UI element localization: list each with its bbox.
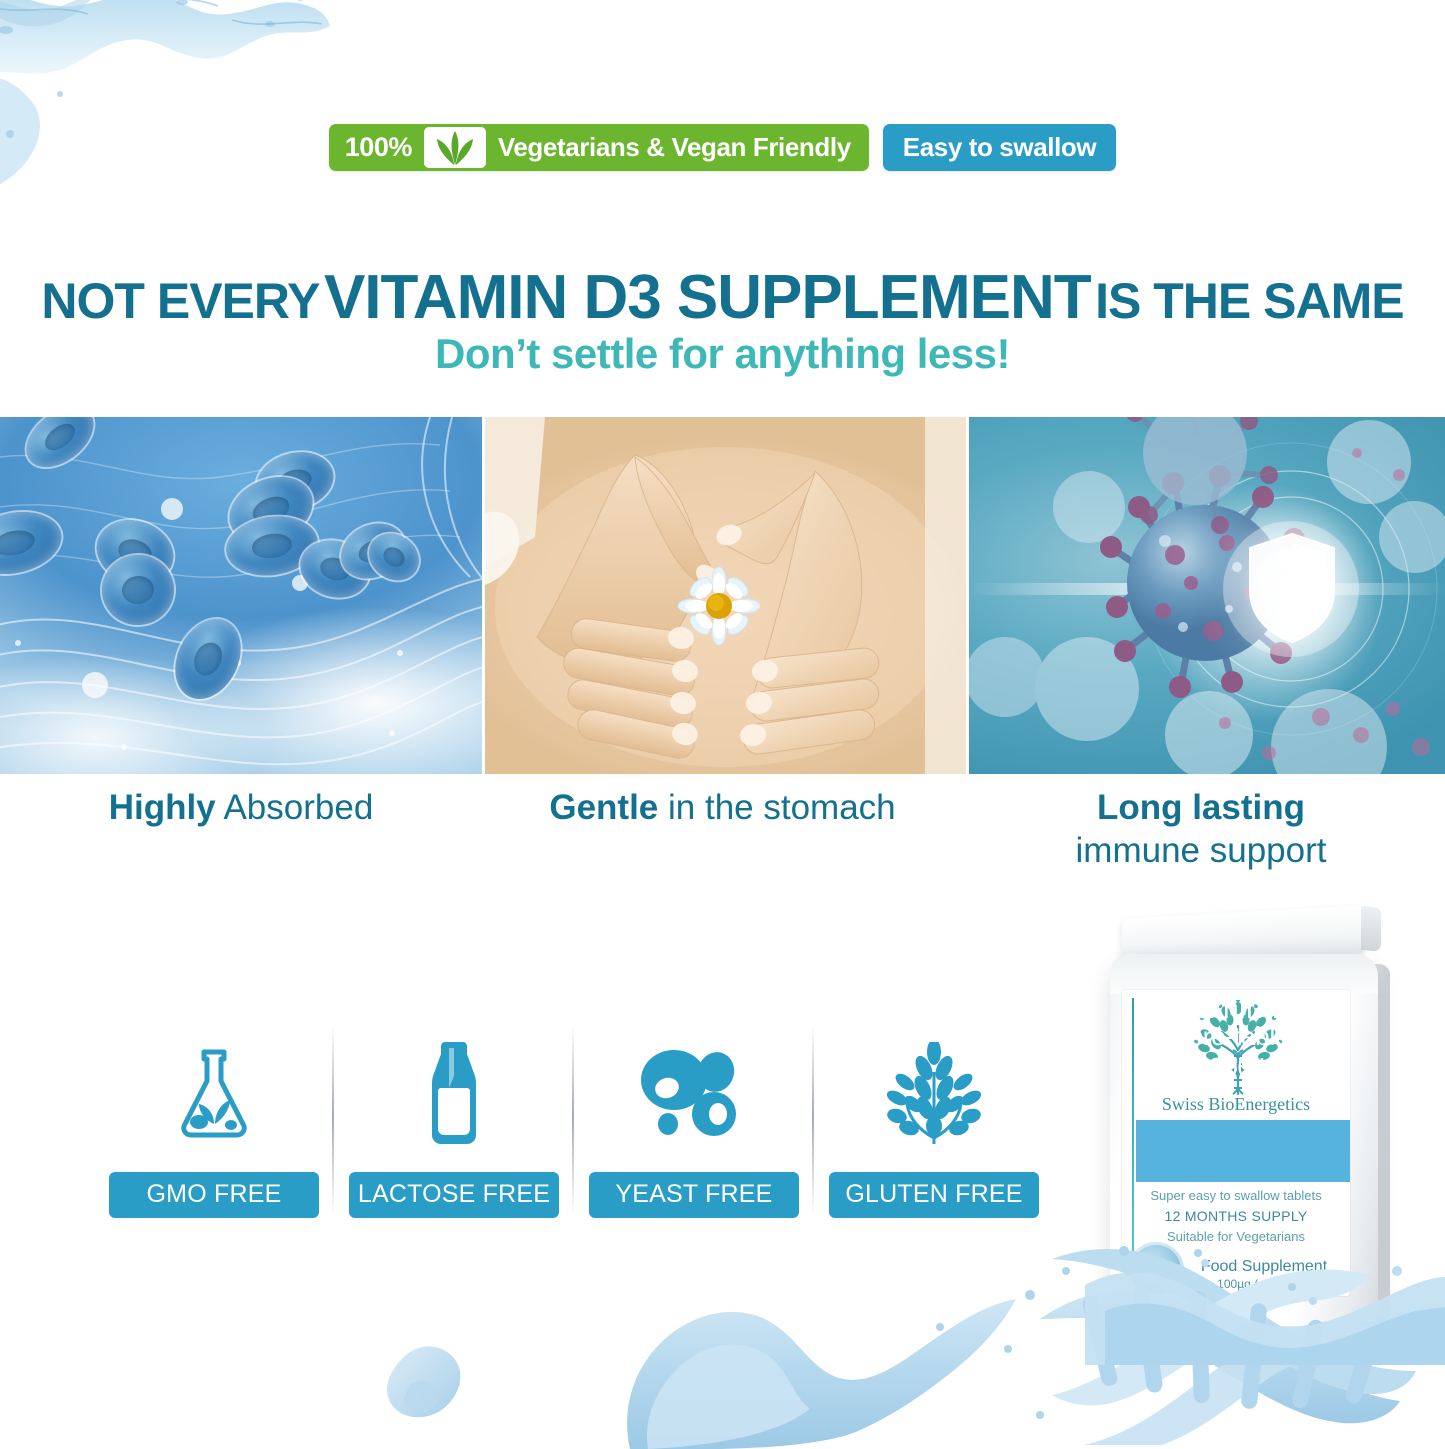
caption-gentle-stomach: Gentle in the stomach: [482, 787, 963, 892]
free-from-label: GMO FREE: [109, 1172, 319, 1218]
free-from-lactose: LACTOSE FREE: [334, 1018, 574, 1218]
vegetarian-vegan-badge: 100% Vegetarians & Vegan Friendly: [329, 124, 869, 171]
free-from-label: YEAST FREE: [589, 1172, 799, 1218]
daisy-flower-icon: [678, 567, 760, 645]
free-from-yeast: YEAST FREE: [574, 1018, 814, 1218]
dose-label: 100µg ( 4000 IU ): [1182, 1277, 1346, 1291]
product-label: Swiss BioEnergetics Vitamin D3 Micro-tab…: [1122, 990, 1350, 1296]
red-blood-cells-photo: [0, 417, 482, 774]
hands-on-stomach-photo: [485, 417, 966, 774]
headline-tail: IS THE SAME: [1095, 273, 1403, 329]
product-sub-line1: Super easy to swallow tablets: [1122, 1188, 1350, 1203]
brand-name: Swiss BioEnergetics: [1122, 1094, 1350, 1115]
caption-bold: Long lasting: [1097, 788, 1305, 827]
easy-to-swallow-badge: Easy to swallow: [883, 124, 1116, 171]
page-title: NOT EVERY VITAMIN D3 SUPPLEMENT IS THE S…: [0, 262, 1445, 333]
product-title-band: [1136, 1120, 1350, 1182]
hundred-percent-label: 100%: [345, 132, 424, 163]
product-bottle: Swiss BioEnergetics Vitamin D3 Micro-tab…: [1100, 912, 1420, 1332]
product-title-line2: Micro-tablets 4000IU: [1122, 1021, 1350, 1083]
virus-shield-photo: [969, 417, 1445, 774]
wheat-icon: [879, 1028, 989, 1160]
benefit-caption-row: Highly Absorbed Gentle in the stomach Lo…: [0, 787, 1445, 892]
gmp-seal: GMP: [1128, 1242, 1184, 1296]
product-sub-line2: 12 MONTHS SUPPLY: [1122, 1208, 1350, 1224]
caption-normal: Absorbed: [223, 788, 373, 827]
caption-bold: Highly: [109, 788, 216, 827]
water-splash-top: [0, 0, 330, 234]
caption-normal: in the stomach: [668, 788, 896, 827]
caption-bold: Gentle: [549, 788, 658, 827]
headline-emphasis: VITAMIN D3 SUPPLEMENT: [324, 263, 1091, 332]
headline-lead: NOT EVERY: [41, 273, 319, 329]
yeast-cells-icon: [636, 1028, 752, 1160]
caption-highly-absorbed: Highly Absorbed: [0, 787, 482, 892]
bottle-shoulder: [1110, 954, 1378, 994]
free-from-label: GLUTEN FREE: [829, 1172, 1039, 1218]
vegetarian-vegan-label: Vegetarians & Vegan Friendly: [498, 132, 865, 163]
milk-bottle-icon: [423, 1028, 485, 1160]
page-subtitle: Don’t settle for anything less!: [0, 330, 1445, 378]
tablet-count-label: 365 Tablets: [1182, 1293, 1346, 1296]
caption-long-lasting-immune: Long lasting immune support: [963, 787, 1439, 892]
food-supplement-label: Food Supplement: [1182, 1258, 1346, 1276]
free-from-row: GMO FREE LACTOSE FREE: [94, 1018, 1054, 1218]
free-from-gluten: GLUTEN FREE: [814, 1018, 1054, 1218]
trust-badge-row: 100% Vegetarians & Vegan Friendly Easy t…: [0, 124, 1445, 171]
free-from-gmo: GMO FREE: [94, 1018, 334, 1218]
shield-icon: [1246, 532, 1338, 644]
caption-second-line: immune support: [1076, 831, 1327, 870]
easy-to-swallow-label: Easy to swallow: [903, 132, 1096, 163]
flask-icon: [175, 1028, 253, 1160]
benefit-photo-strip: [0, 417, 1445, 774]
leaf-icon: [424, 127, 486, 168]
free-from-label: LACTOSE FREE: [349, 1172, 559, 1218]
